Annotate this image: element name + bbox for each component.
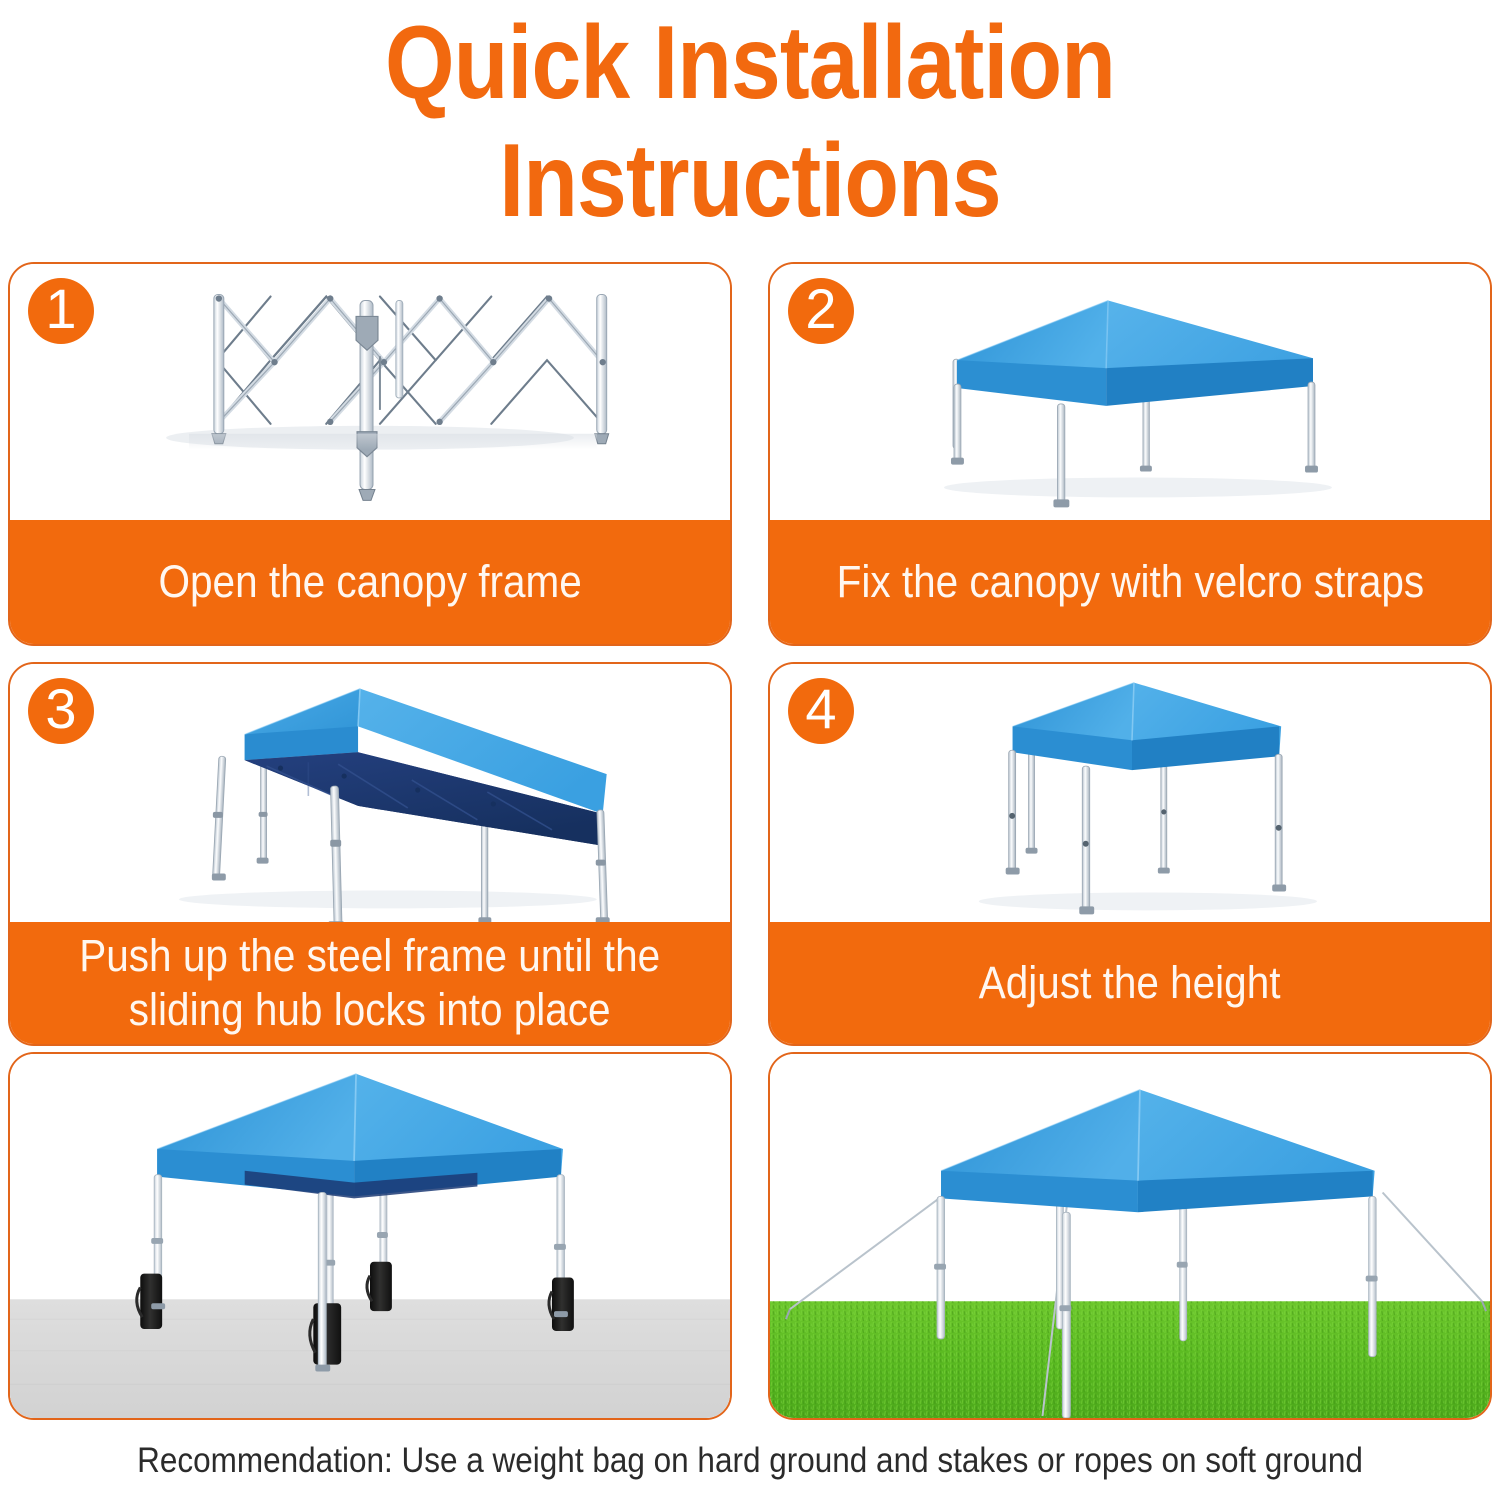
weight-bag <box>367 1262 392 1311</box>
page-title: Quick Installation Instructions <box>105 4 1395 240</box>
step-caption-1: Open the canopy frame <box>10 520 730 644</box>
canopy-underside-icon <box>10 664 730 922</box>
weight-bag <box>549 1278 574 1331</box>
step-illustration-4 <box>770 664 1490 922</box>
infographic-page: Quick Installation Instructions 1 <box>0 0 1500 1492</box>
step-illustration-1 <box>10 264 730 520</box>
weight-bag <box>137 1274 162 1329</box>
canopy-height-adjust-icon <box>770 664 1490 922</box>
step-caption-3-text: Push up the steel frame until the slidin… <box>80 929 661 1037</box>
step-caption-1-text: Open the canopy frame <box>158 555 581 609</box>
step-card-3: 3 <box>8 662 732 1046</box>
step-badge-3: 3 <box>28 678 94 744</box>
recommendation-note: Recommendation: Use a weight bag on hard… <box>0 1440 1500 1482</box>
canopy-tent-icon <box>770 264 1490 520</box>
step-caption-2: Fix the canopy with velcro straps <box>770 520 1490 644</box>
step-badge-1: 1 <box>28 278 94 344</box>
photo-illustration-weight-bags <box>10 1054 730 1418</box>
step-card-2: 2 <box>768 262 1492 646</box>
photo-illustration-guy-ropes <box>770 1054 1490 1418</box>
step-card-4: 4 <box>768 662 1492 1046</box>
canopy-guy-ropes-photo <box>770 1054 1490 1418</box>
step-illustration-3 <box>10 664 730 922</box>
step-caption-4: Adjust the height <box>770 922 1490 1044</box>
photo-card-guy-ropes <box>768 1052 1492 1420</box>
step-caption-4-text: Adjust the height <box>979 956 1281 1010</box>
step-badge-4: 4 <box>788 678 854 744</box>
step-illustration-2 <box>770 264 1490 520</box>
step-badge-2: 2 <box>788 278 854 344</box>
step-caption-2-text: Fix the canopy with velcro straps <box>836 555 1423 609</box>
step-card-1: 1 <box>8 262 732 646</box>
canopy-weight-bags-photo <box>10 1054 730 1418</box>
photo-card-weight-bags <box>8 1052 732 1420</box>
recommendation-note-text: Recommendation: Use a weight bag on hard… <box>137 1440 1363 1482</box>
step-caption-3: Push up the steel frame until the slidin… <box>10 922 730 1044</box>
scissor-frame-icon <box>10 264 730 520</box>
